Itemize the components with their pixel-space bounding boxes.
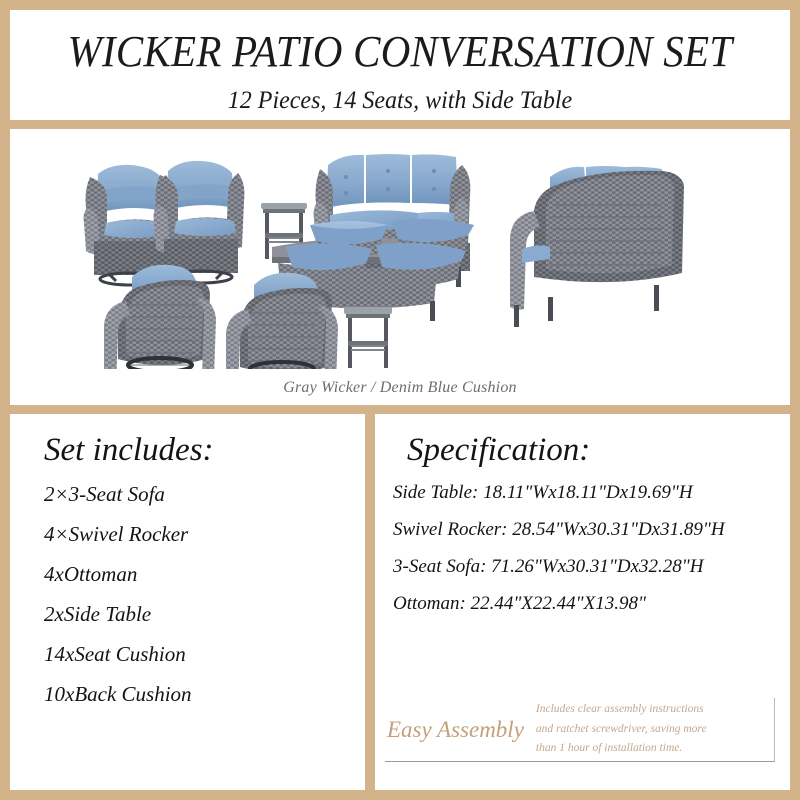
assembly-line: and ratchet screwdriver, saving more [536, 720, 764, 740]
set-includes-panel: Set includes: 2×3-Seat Sofa 4×Swivel Roc… [10, 414, 365, 790]
set-includes-heading: Set includes: [44, 432, 365, 468]
hero-caption: Gray Wicker / Denim Blue Cushion [10, 379, 790, 397]
list-item: 2xSide Table [44, 594, 365, 634]
list-item: Swivel Rocker: 28.54"Wx30.31"Dx31.89"H [393, 511, 790, 548]
easy-assembly-title: Easy Assembly [385, 717, 536, 743]
ottoman-4 [376, 243, 466, 286]
list-item: 14xSeat Cushion [44, 634, 365, 674]
list-item: 3-Seat Sofa: 71.26"Wx30.31"Dx32.28"H [393, 548, 790, 585]
list-item: 2×3-Seat Sofa [44, 474, 365, 514]
assembly-line: than 1 hour of installation time. [536, 739, 764, 759]
easy-assembly-description: Includes clear assembly instructions and… [536, 700, 774, 759]
header-panel: WICKER PATIO CONVERSATION SET 12 Pieces,… [10, 10, 790, 120]
hero-panel: Gray Wicker / Denim Blue Cushion [10, 129, 790, 405]
infographic-frame: WICKER PATIO CONVERSATION SET 12 Pieces,… [0, 0, 800, 800]
list-item: 10xBack Cushion [44, 674, 365, 714]
assembly-line: Includes clear assembly instructions [536, 700, 764, 720]
set-includes-list: 2×3-Seat Sofa 4×Swivel Rocker 4xOttoman … [44, 474, 365, 714]
patio-furniture-set-photo [10, 129, 790, 369]
list-item: 4xOttoman [44, 554, 365, 594]
page-title: WICKER PATIO CONVERSATION SET [37, 30, 762, 74]
list-item: 4×Swivel Rocker [44, 514, 365, 554]
easy-assembly-callout: Easy Assembly Includes clear assembly in… [385, 698, 775, 762]
list-item: Ottoman: 22.44"X22.44"X13.98" [393, 585, 790, 622]
specification-heading: Specification: [393, 432, 790, 468]
specification-panel: Specification: Side Table: 18.11"Wx18.11… [375, 414, 790, 790]
page-subtitle: 12 Pieces, 14 Seats, with Side Table [26, 87, 775, 115]
list-item: Side Table: 18.11"Wx18.11"Dx19.69"H [393, 474, 790, 511]
swivel-rocker-back-left-2 [154, 161, 245, 283]
specification-list: Side Table: 18.11"Wx18.11"Dx19.69"H Swiv… [393, 474, 790, 622]
